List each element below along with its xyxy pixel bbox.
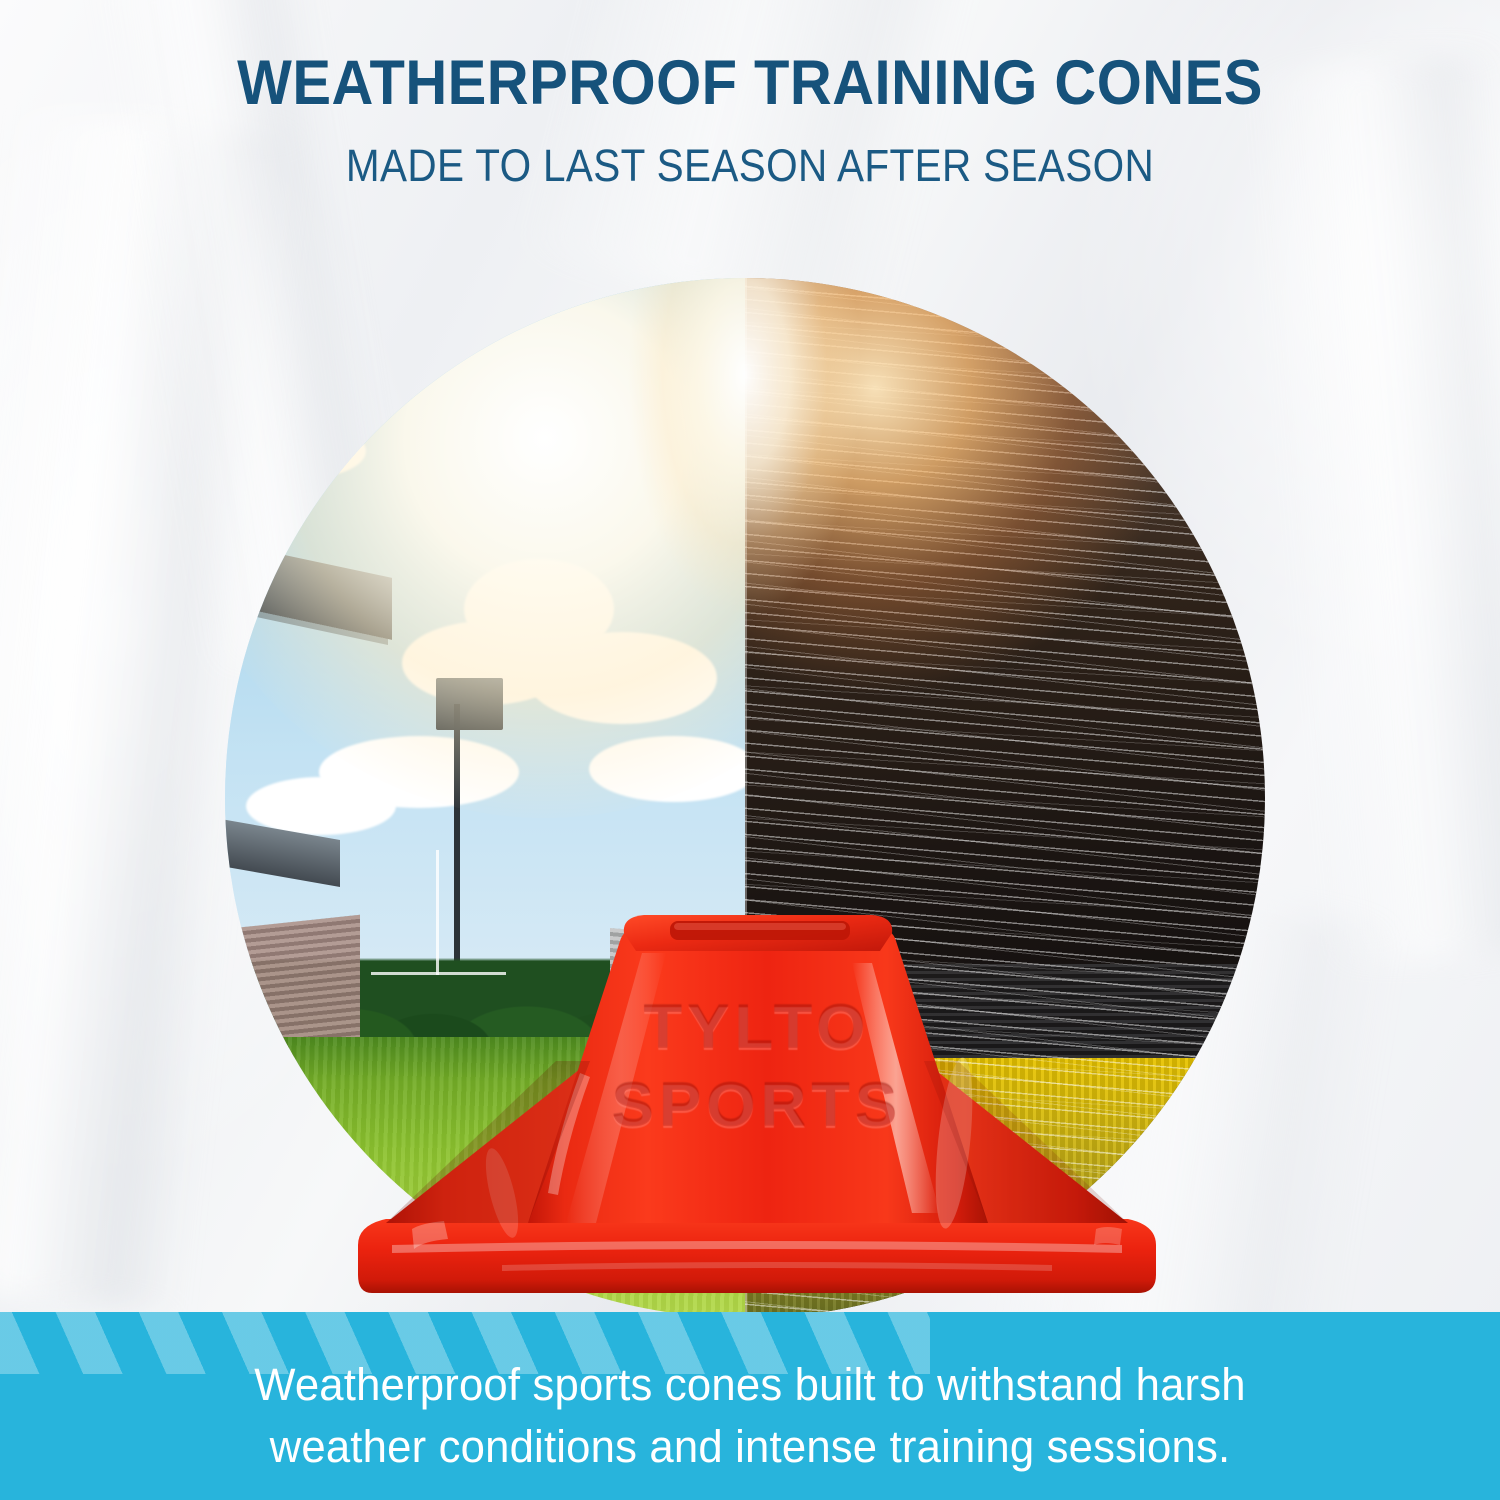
footer-bar: Weatherproof sports cones built to withs… [0, 1312, 1500, 1500]
page-title: WEATHERPROOF TRAINING CONES [60, 52, 1440, 115]
fabric-fold [1241, 50, 1500, 969]
cone-base [358, 1219, 1156, 1293]
page-subtitle: MADE TO LAST SEASON AFTER SEASON [75, 143, 1425, 188]
training-cone: TYLTO SPORTS [352, 893, 1162, 1313]
product-marketing-image: WEATHERPROOF TRAINING CONES MADE TO LAST… [0, 0, 1500, 1500]
footer-caption: Weatherproof sports cones built to withs… [23, 1354, 1478, 1478]
header-block: WEATHERPROOF TRAINING CONES MADE TO LAST… [0, 52, 1500, 188]
caption-line-1: Weatherproof sports cones built to withs… [23, 1354, 1478, 1416]
caption-line-2: weather conditions and intense training … [23, 1416, 1478, 1478]
